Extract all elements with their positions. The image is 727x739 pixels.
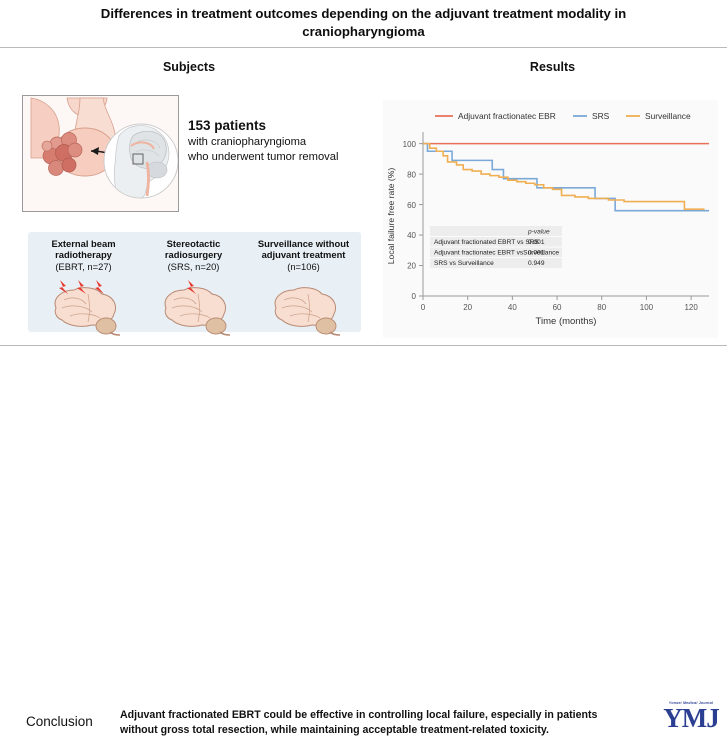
group-title-line1: External beam — [28, 238, 139, 249]
treatment-group-surveillance: Surveillance without adjuvant treatment … — [248, 238, 359, 272]
group-n-label: (SRS, n=20) — [138, 261, 249, 272]
brain-with-radiation-beams-icon — [38, 280, 130, 336]
infographic-page: Differences in treatment outcomes depend… — [0, 0, 727, 409]
svg-text:20: 20 — [463, 303, 472, 312]
conclusion-area: Conclusion Adjuvant fractionated EBRT co… — [0, 346, 727, 409]
brain-with-single-beam-icon — [148, 280, 240, 336]
group-title-line2: radiotherapy — [28, 249, 139, 260]
svg-text:40: 40 — [407, 231, 416, 240]
svg-text:60: 60 — [407, 201, 416, 210]
svg-text:Local failure free rate (%): Local failure free rate (%) — [386, 168, 396, 265]
svg-text:0: 0 — [421, 303, 426, 312]
treatment-groups-panel: External beam radiotherapy (EBRT, n=27) … — [28, 232, 361, 332]
svg-text:80: 80 — [597, 303, 606, 312]
svg-text:80: 80 — [407, 170, 416, 179]
brain-icon — [258, 280, 350, 336]
svg-text:Time (months): Time (months) — [536, 316, 597, 327]
craniopharyngioma-illustration — [22, 95, 179, 212]
group-title-line2: radiosurgery — [138, 249, 249, 260]
patients-count: 153 patients — [188, 118, 368, 135]
svg-text:100: 100 — [403, 140, 417, 149]
conclusion-text: Adjuvant fractionated EBRT could be effe… — [120, 708, 620, 739]
results-header: Results — [378, 60, 727, 74]
svg-text:0.001: 0.001 — [528, 239, 545, 246]
svg-text:60: 60 — [553, 303, 562, 312]
group-title-line2: adjuvant treatment — [248, 249, 359, 260]
treatment-group-srs: Stereotactic radiosurgery (SRS, n=20) — [138, 238, 249, 272]
svg-text:0.949: 0.949 — [528, 260, 545, 267]
page-title: Differences in treatment outcomes depend… — [44, 5, 684, 41]
svg-text:SRS: SRS — [592, 111, 610, 121]
svg-text:p-value: p-value — [527, 229, 550, 236]
ymj-logo-text: YMJ — [662, 705, 720, 732]
svg-text:120: 120 — [684, 303, 698, 312]
svg-text:Surveillance: Surveillance — [645, 111, 691, 121]
svg-text:100: 100 — [640, 303, 654, 312]
title-bar: Differences in treatment outcomes depend… — [0, 0, 727, 46]
svg-text:Adjuvant fractionatec EBR: Adjuvant fractionatec EBR — [458, 111, 556, 121]
patients-line-2: with craniopharyngioma — [188, 135, 368, 150]
svg-text:SRS vs Surveillance: SRS vs Surveillance — [434, 260, 494, 267]
svg-text:40: 40 — [508, 303, 517, 312]
conclusion-label: Conclusion — [26, 714, 93, 729]
kaplan-meier-chart: 020406080100020406080100120Time (months)… — [383, 100, 718, 338]
svg-text:Adjuvant fractionated EBRT vs: Adjuvant fractionated EBRT vs SRS — [434, 239, 540, 246]
group-n-label: (EBRT, n=27) — [28, 261, 139, 272]
group-n-label: (n=106) — [248, 261, 359, 272]
patients-summary: 153 patients with craniopharyngioma who … — [188, 118, 368, 164]
svg-text:0.001: 0.001 — [528, 249, 545, 256]
group-title-line1: Surveillance without — [248, 238, 359, 249]
group-title-line1: Stereotactic — [138, 238, 249, 249]
patients-line-3: who underwent tumor removal — [188, 150, 368, 165]
svg-text:20: 20 — [407, 262, 416, 271]
ymj-logo: Yonsei Medical Journal YMJ — [662, 701, 720, 732]
subjects-header: Subjects — [0, 60, 378, 74]
treatment-group-ebrt: External beam radiotherapy (EBRT, n=27) — [28, 238, 139, 272]
svg-text:0: 0 — [412, 292, 417, 301]
